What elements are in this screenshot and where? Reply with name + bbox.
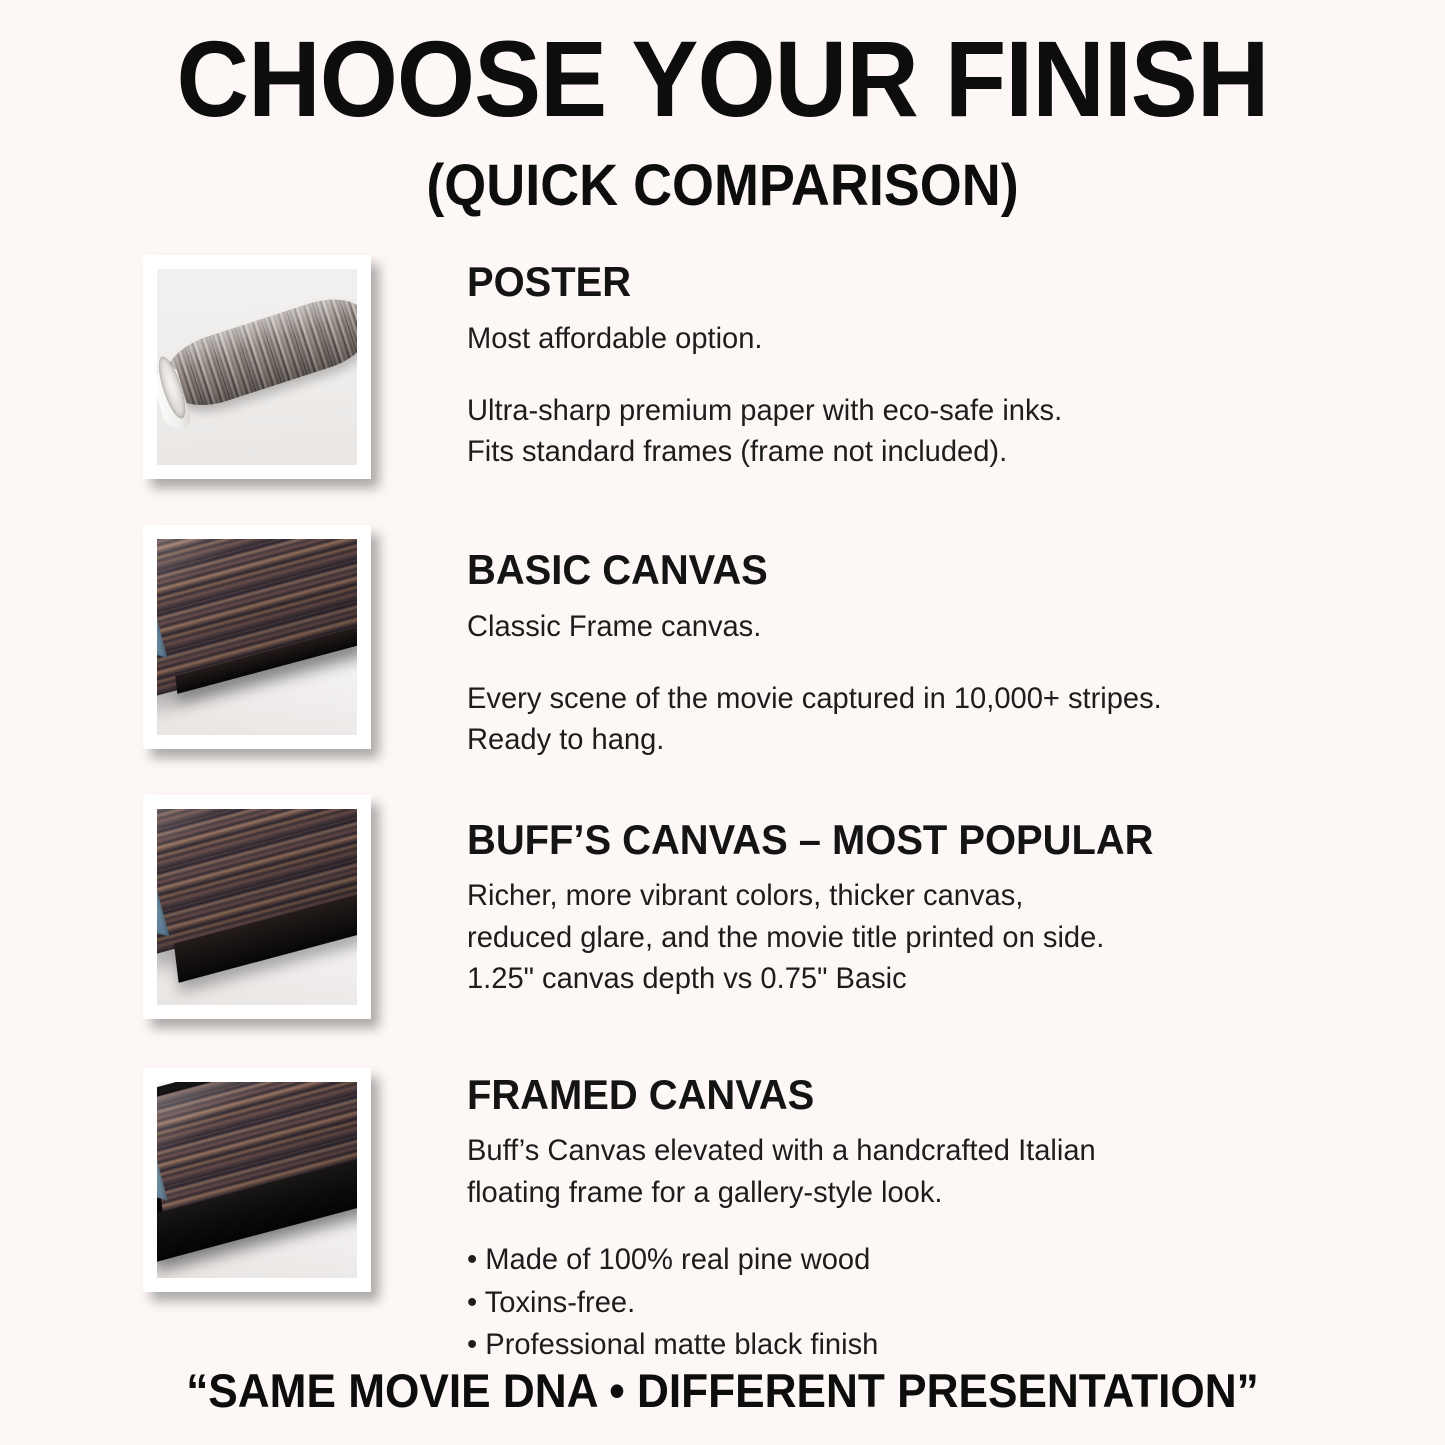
option-body: Ultra-sharp premium paper with eco-safe … bbox=[467, 390, 1204, 473]
option-body: Buff’s Canvas elevated with a handcrafte… bbox=[467, 1130, 1204, 1213]
product-image-inner bbox=[157, 269, 357, 465]
option-bullet-list: Made of 100% real pine wood Toxins-free.… bbox=[467, 1239, 1204, 1367]
option-row-buffs-canvas: BUFF’S CANVAS – MOST POPULAR Richer, mor… bbox=[0, 795, 1445, 1019]
list-item: Made of 100% real pine wood bbox=[467, 1239, 1204, 1282]
infographic-page: CHOOSE YOUR FINISH (QUICK COMPARISON) PO… bbox=[0, 0, 1445, 1445]
option-body-line: Every scene of the movie captured in 10,… bbox=[467, 678, 1204, 719]
header: CHOOSE YOUR FINISH (QUICK COMPARISON) bbox=[0, 0, 1445, 217]
product-image-poster bbox=[143, 255, 371, 479]
option-body-line: floating frame for a gallery-style look. bbox=[467, 1172, 1204, 1213]
option-text-poster: POSTER Most affordable option. Ultra-sha… bbox=[467, 255, 1227, 479]
product-image-inner bbox=[157, 539, 357, 735]
option-body-line: Ready to hang. bbox=[467, 719, 1204, 760]
product-image-inner bbox=[157, 1082, 357, 1278]
option-text-buffs-canvas: BUFF’S CANVAS – MOST POPULAR Richer, mor… bbox=[467, 795, 1227, 1019]
option-body-line: Buff’s Canvas elevated with a handcrafte… bbox=[467, 1130, 1204, 1171]
product-image-buffs-canvas bbox=[143, 795, 371, 1019]
option-row-framed-canvas: FRAMED CANVAS Buff’s Canvas elevated wit… bbox=[0, 1068, 1445, 1367]
footer-tagline: “SAME MOVIE DNA • DIFFERENT PRESENTATION… bbox=[43, 1363, 1401, 1418]
option-body-line: Fits standard frames (frame not included… bbox=[467, 431, 1204, 472]
product-image-framed-canvas bbox=[143, 1068, 371, 1292]
page-subtitle: (QUICK COMPARISON) bbox=[51, 156, 1395, 217]
product-image-basic-canvas bbox=[143, 525, 371, 749]
option-title: BASIC CANVAS bbox=[467, 547, 1189, 593]
option-text-framed-canvas: FRAMED CANVAS Buff’s Canvas elevated wit… bbox=[467, 1068, 1227, 1367]
option-body-line: 1.25" canvas depth vs 0.75" Basic bbox=[467, 958, 1204, 999]
option-title: FRAMED CANVAS bbox=[467, 1072, 1189, 1118]
page-title: CHOOSE YOUR FINISH bbox=[51, 24, 1395, 134]
option-row-basic-canvas: BASIC CANVAS Classic Frame canvas. Every… bbox=[0, 525, 1445, 760]
option-text-basic-canvas: BASIC CANVAS Classic Frame canvas. Every… bbox=[467, 525, 1227, 760]
option-title: POSTER bbox=[467, 259, 1189, 305]
option-body: Every scene of the movie captured in 10,… bbox=[467, 678, 1204, 761]
list-item: Professional matte black finish bbox=[467, 1324, 1204, 1367]
option-body: Richer, more vibrant colors, thicker can… bbox=[467, 875, 1204, 999]
option-body-line: Richer, more vibrant colors, thicker can… bbox=[467, 875, 1204, 916]
option-title: BUFF’S CANVAS – MOST POPULAR bbox=[467, 817, 1189, 863]
option-lead: Classic Frame canvas. bbox=[467, 607, 1204, 648]
option-lead: Most affordable option. bbox=[467, 319, 1204, 360]
option-body-line: reduced glare, and the movie title print… bbox=[467, 917, 1204, 958]
option-row-poster: POSTER Most affordable option. Ultra-sha… bbox=[0, 255, 1445, 479]
product-image-inner bbox=[157, 809, 357, 1005]
option-body-line: Ultra-sharp premium paper with eco-safe … bbox=[467, 390, 1204, 431]
list-item: Toxins-free. bbox=[467, 1282, 1204, 1325]
